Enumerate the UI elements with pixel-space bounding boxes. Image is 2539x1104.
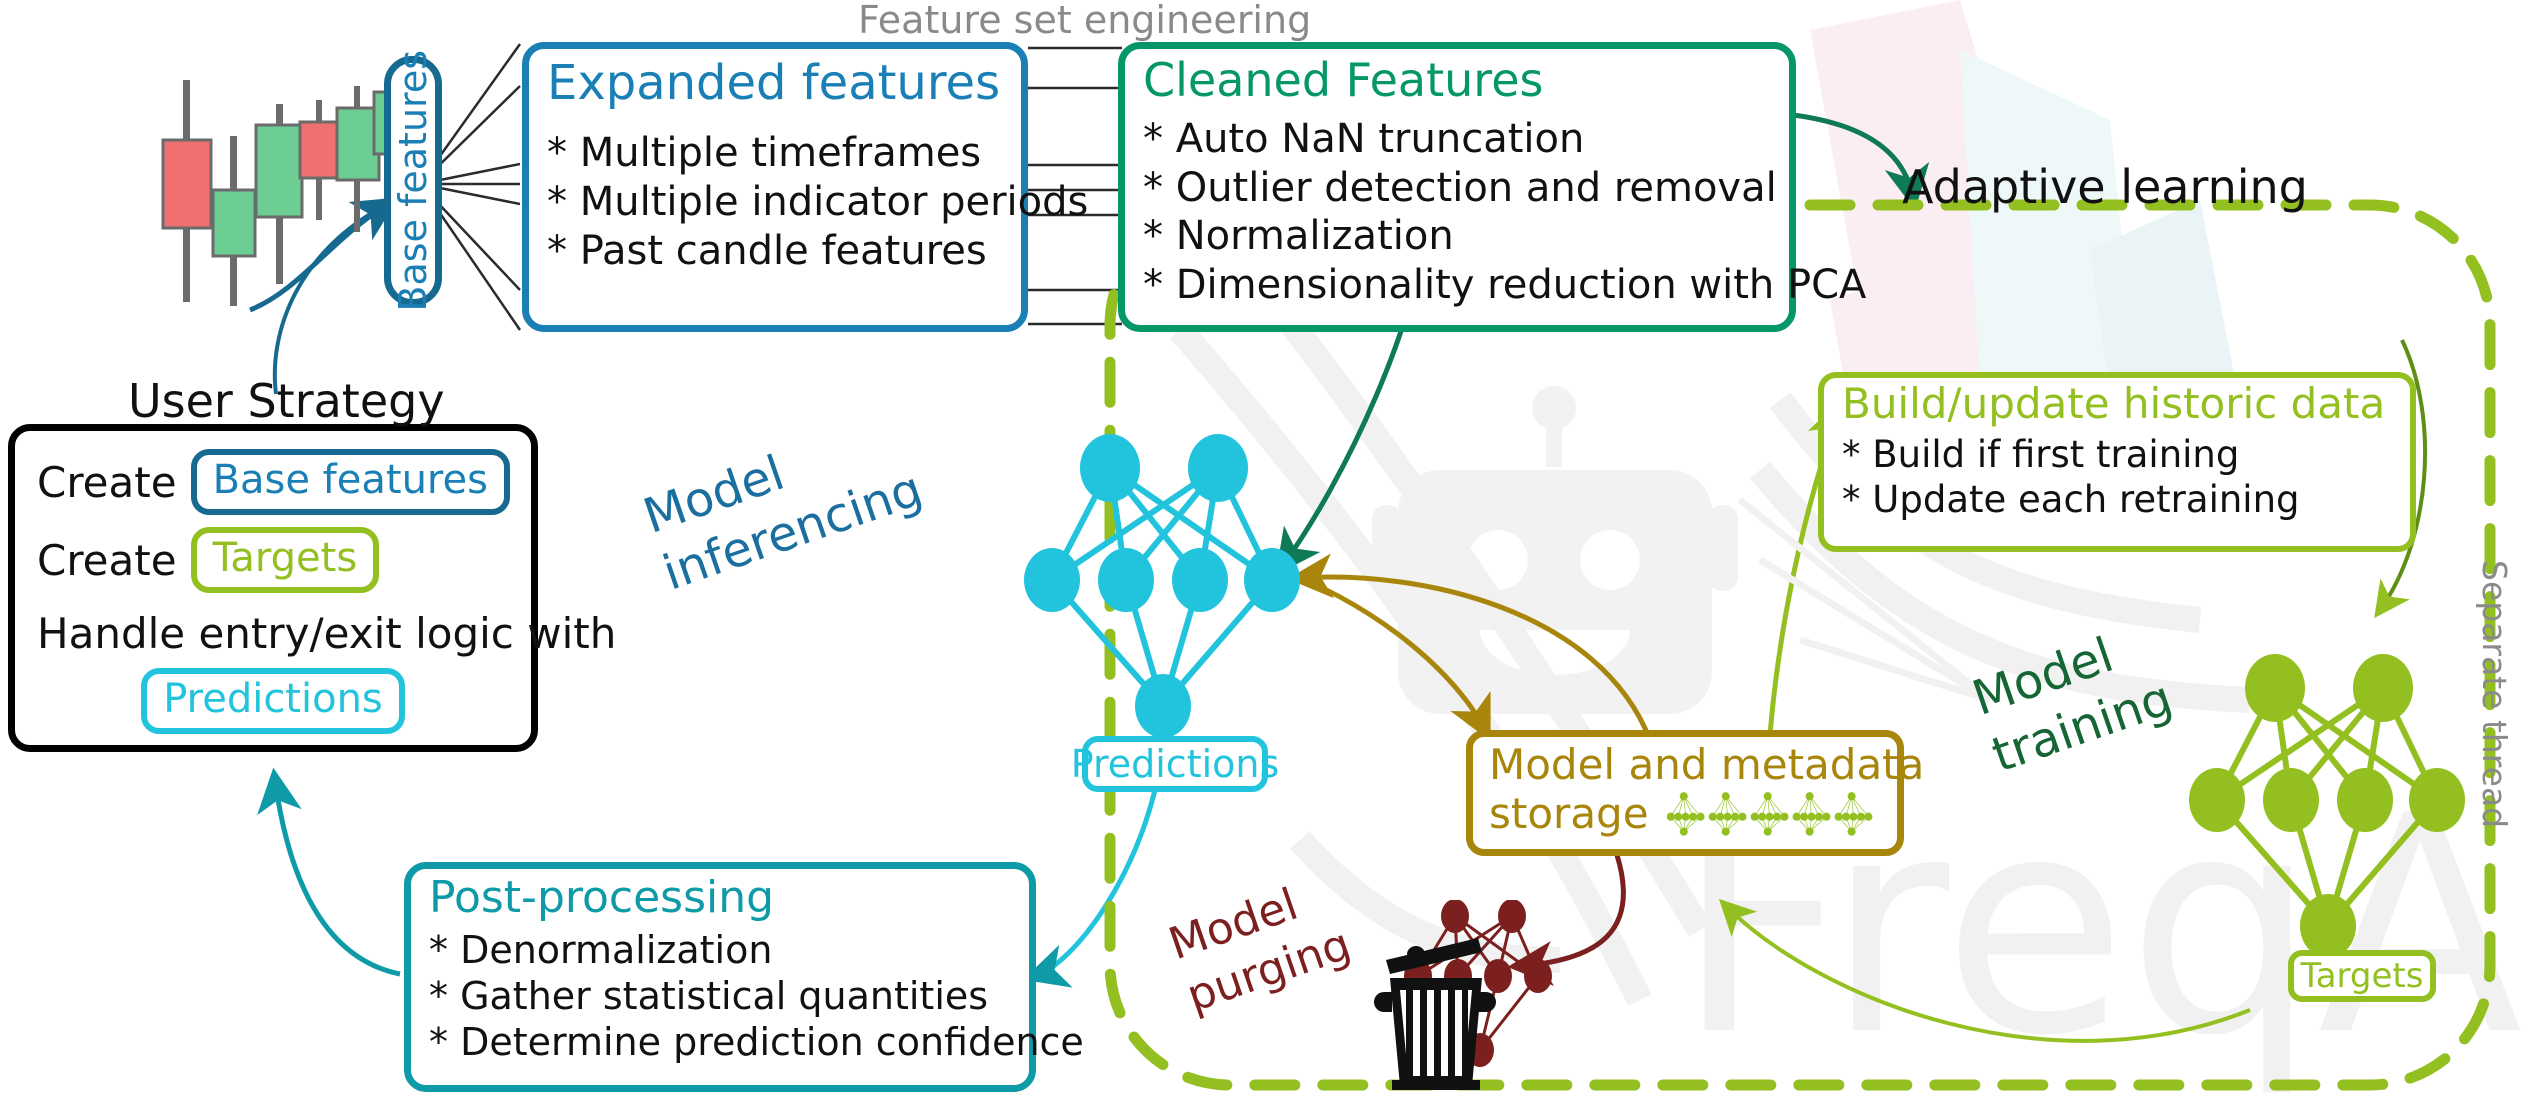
- arrow-predictions-to-postprocessing: [1035, 790, 1155, 976]
- post-processing-title: Post-processing: [429, 875, 1011, 921]
- build-update-historic-data-box[interactable]: Build/update historic data * Build if fi…: [1818, 372, 2416, 552]
- trash-can-icon: [1370, 930, 1500, 1090]
- entry-exit-logic-text: Handle entry/exit logic with: [37, 609, 509, 658]
- candle-down: [300, 100, 340, 220]
- expanded-features-item: * Multiple timeframes: [547, 129, 1003, 178]
- targets-pill-inline[interactable]: Targets: [191, 527, 380, 593]
- post-processing-item: * Denormalization: [429, 927, 1011, 973]
- candlestick-chart: [150, 80, 390, 340]
- predictions-pill[interactable]: Predictions: [1082, 736, 1268, 792]
- expanded-features-item: * Past candle features: [547, 227, 1003, 276]
- create-targets-prefix: Create: [37, 536, 177, 585]
- adaptive-learning-heading: Adaptive learning: [1902, 160, 2308, 214]
- training-neural-network: [2185, 650, 2485, 970]
- diagram-canvas: FreqAI: [0, 0, 2539, 1104]
- post-processing-box[interactable]: Post-processing * Denormalization * Gath…: [404, 862, 1036, 1092]
- cleaned-features-item: * Normalization: [1143, 212, 1771, 261]
- build-update-item: * Build if first training: [1842, 432, 2392, 477]
- build-update-item: * Update each retraining: [1842, 477, 2392, 522]
- model-metadata-storage-box[interactable]: Model and metadata storage: [1466, 730, 1904, 856]
- arrow-postprocessing-to-strategy: [275, 780, 400, 974]
- candle-up: [256, 104, 302, 284]
- separate-thread-label: Separate thread: [2475, 560, 2514, 828]
- base-features-pill-inline[interactable]: Base features: [191, 449, 510, 515]
- inference-neural-network: [1020, 430, 1320, 750]
- targets-pill[interactable]: Targets: [2288, 950, 2436, 1002]
- predictions-pill-label: Predictions: [1071, 742, 1280, 786]
- candle-down: [163, 80, 211, 302]
- cleaned-features-item: * Auto NaN truncation: [1143, 115, 1771, 164]
- create-base-features-prefix: Create: [37, 458, 177, 507]
- expanded-features-title: Expanded features: [547, 59, 1003, 109]
- cleaned-features-item: * Outlier detection and removal: [1143, 164, 1771, 213]
- cleaned-features-title: Cleaned Features: [1143, 57, 1771, 105]
- user-strategy-heading: User Strategy: [128, 374, 445, 428]
- stored-models-icon: [1667, 787, 1881, 839]
- candle-up: [213, 136, 255, 306]
- base-features-pill-label: Base features: [391, 50, 435, 312]
- base-features-pill[interactable]: Base features: [384, 56, 442, 306]
- expanded-features-box[interactable]: Expanded features * Multiple timeframes …: [522, 42, 1028, 332]
- targets-pill-label: Targets: [2301, 956, 2424, 996]
- cleaned-features-item: * Dimensionality reduction with PCA: [1143, 261, 1771, 310]
- post-processing-item: * Determine prediction confidence: [429, 1019, 1011, 1065]
- model-storage-line1: Model and metadata: [1489, 743, 1881, 787]
- model-storage-line2: storage: [1489, 789, 1649, 838]
- post-processing-item: * Gather statistical quantities: [429, 973, 1011, 1019]
- predictions-pill-inline[interactable]: Predictions: [141, 668, 405, 734]
- expanded-features-item: * Multiple indicator periods: [547, 178, 1003, 227]
- build-update-title: Build/update historic data: [1842, 382, 2392, 426]
- cleaned-features-box[interactable]: Cleaned Features * Auto NaN truncation *…: [1118, 42, 1796, 332]
- feature-set-engineering-heading: Feature set engineering: [858, 0, 1311, 42]
- user-strategy-box[interactable]: Create Base features Create Targets Hand…: [8, 424, 538, 752]
- arrow-cleaned-to-adaptive-learning: [1793, 115, 1913, 198]
- arrow-targets-to-storage: [1726, 906, 2250, 1041]
